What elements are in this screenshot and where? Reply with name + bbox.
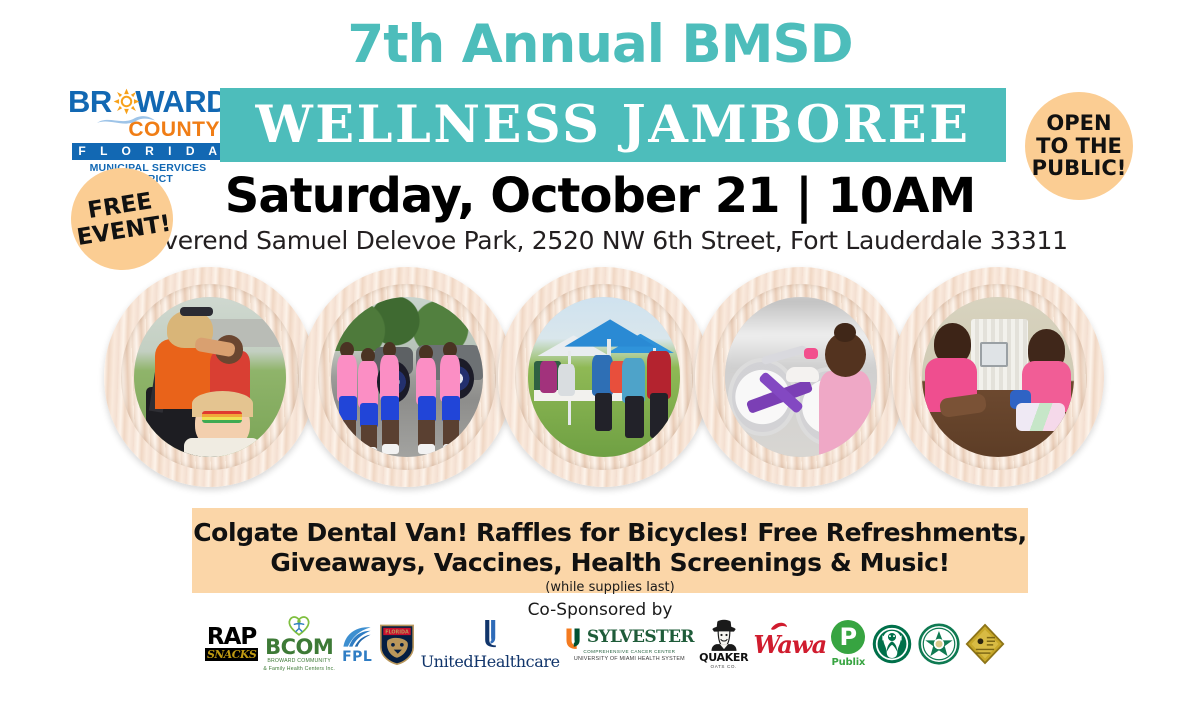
event-details-box: Colgate Dental Van! Raffles for Bicycles… bbox=[192, 508, 1028, 593]
rap-snacks-logo: RAP SNACKS bbox=[205, 614, 258, 674]
photo-frame-3: Attendees at blue pop-up tents and table… bbox=[498, 267, 710, 487]
rap-snacks-subtext: SNACKS bbox=[205, 648, 258, 661]
quaker-man-icon bbox=[709, 619, 739, 651]
sun-icon bbox=[113, 88, 140, 115]
publix-circle-mark: P bbox=[831, 620, 865, 654]
panthers-shield-icon: FLORIDA bbox=[379, 623, 415, 665]
fpl-logo: FPL bbox=[340, 614, 374, 674]
quaker-subtext: OATS CO. bbox=[711, 664, 737, 669]
health-screening-photo: Two women in pink shirts at a clinic tab… bbox=[922, 297, 1074, 457]
bcom-logo: BCOM BROWARD COMMUNITY & Family Health C… bbox=[263, 614, 335, 674]
bcom-heart-icon bbox=[287, 615, 311, 636]
sylvester-subtext-2: UNIVERSITY OF MIAMI HEALTH SYSTEM bbox=[574, 656, 685, 662]
sylvester-logo: SYLVESTER COMPREHENSIVE CANCER CENTER UN… bbox=[565, 614, 694, 674]
starbucks-logo bbox=[871, 614, 913, 674]
photo-inner-ring-1: Woman face-painting children at outdoor … bbox=[121, 284, 299, 470]
photo-frame-4: Purple children's bicycle with a young g… bbox=[695, 267, 907, 487]
unitedhealthcare-wordmark: UnitedHealthcare bbox=[421, 652, 560, 671]
sylvester-subtext-1: COMPREHENSIVE CANCER CENTER bbox=[583, 649, 675, 654]
details-line-2: Giveaways, Vaccines, Health Screenings &… bbox=[192, 548, 1028, 578]
event-flyer: BROWARD COUNTY F L O R I bbox=[0, 0, 1200, 720]
flyer-headline: 7th Annual BMSD bbox=[0, 14, 1200, 75]
panthers-florida-text: FLORIDA bbox=[386, 630, 410, 636]
gold-diamond-icon bbox=[965, 623, 1005, 665]
photo-inner-ring-4: Purple children's bicycle with a young g… bbox=[712, 284, 890, 470]
sheriff-badge-icon bbox=[918, 623, 960, 665]
photo-gallery: Woman face-painting children at outdoor … bbox=[104, 267, 1104, 487]
event-date-time: Saturday, October 21 | 10AM bbox=[0, 168, 1200, 224]
wave-swoosh-icon bbox=[94, 114, 158, 127]
open-badge-line3: PUBLIC! bbox=[1032, 157, 1127, 180]
publix-logo: P Publix bbox=[831, 614, 865, 674]
open-badge-line2: TO THE bbox=[1032, 135, 1127, 158]
face-painting-photo: Woman face-painting children at outdoor … bbox=[134, 297, 286, 457]
photo-frame-1: Woman face-painting children at outdoor … bbox=[104, 267, 316, 487]
details-line-1: Colgate Dental Van! Raffles for Bicycles… bbox=[192, 518, 1028, 548]
wawa-goose-icon bbox=[770, 622, 788, 632]
open-to-public-badge: OPEN TO THE PUBLIC! bbox=[1025, 92, 1133, 200]
gold-diamond-emblem bbox=[965, 614, 1005, 674]
sheriff-star-logo bbox=[918, 614, 960, 674]
unitedhealthcare-logo: UnitedHealthcare bbox=[421, 614, 560, 674]
fpl-wordmark: FPL bbox=[342, 649, 372, 665]
event-tents-photo: Attendees at blue pop-up tents and table… bbox=[528, 297, 680, 457]
banner-title: WELLNESS JAMBOREE bbox=[256, 95, 971, 155]
photo-frame-2: Marching band members in pink hoodies an… bbox=[301, 267, 513, 487]
rap-snacks-wordmark: RAP bbox=[207, 627, 256, 648]
bcom-wordmark: BCOM bbox=[265, 637, 333, 658]
publix-wordmark: Publix bbox=[831, 657, 865, 668]
wawa-wordmark: Wawa bbox=[754, 630, 827, 659]
photo-inner-ring-2: Marching band members in pink hoodies an… bbox=[318, 284, 496, 470]
wellness-jamboree-banner: WELLNESS JAMBOREE bbox=[220, 88, 1006, 162]
sponsor-logo-row: RAP SNACKS BCOM BROWARD COMMUNITY & Fami… bbox=[205, 612, 1005, 676]
photo-frame-5: Two women in pink shirts at a clinic tab… bbox=[892, 267, 1104, 487]
details-disclaimer: (while supplies last) bbox=[192, 580, 1028, 595]
bcom-subtext-2: & Family Health Centers Inc. bbox=[263, 666, 335, 673]
quaker-logo: QUAKER OATS CO. bbox=[699, 614, 748, 674]
florida-panthers-logo: FLORIDA bbox=[379, 614, 415, 674]
bcom-subtext-1: BROWARD COMMUNITY bbox=[267, 658, 331, 665]
photo-inner-ring-3: Attendees at blue pop-up tents and table… bbox=[515, 284, 693, 470]
event-address: Reverend Samuel Delevoe Park, 2520 NW 6t… bbox=[0, 226, 1200, 255]
sylvester-wordmark: SYLVESTER bbox=[587, 629, 694, 646]
open-badge-line1: OPEN bbox=[1032, 112, 1127, 135]
starbucks-siren-icon bbox=[871, 623, 913, 665]
photo-inner-ring-5: Two women in pink shirts at a clinic tab… bbox=[909, 284, 1087, 470]
wawa-logo: Wawa bbox=[754, 614, 827, 674]
logo-florida-bar: F L O R I D A bbox=[72, 143, 224, 160]
sylvester-u-icon bbox=[565, 627, 584, 649]
logo-broward-word: BROWARD bbox=[68, 86, 228, 117]
bicycle-raffle-photo: Purple children's bicycle with a young g… bbox=[725, 297, 877, 457]
publix-p-letter: P bbox=[840, 625, 858, 649]
logo-broward-row: BROWARD bbox=[72, 84, 224, 118]
fpl-swirl-icon bbox=[340, 624, 374, 650]
marching-band-photo: Marching band members in pink hoodies an… bbox=[331, 297, 483, 457]
uhc-mark-icon bbox=[484, 618, 497, 648]
quaker-wordmark: QUAKER bbox=[699, 651, 748, 664]
wawa-wordmark-wrap: Wawa bbox=[754, 630, 827, 659]
